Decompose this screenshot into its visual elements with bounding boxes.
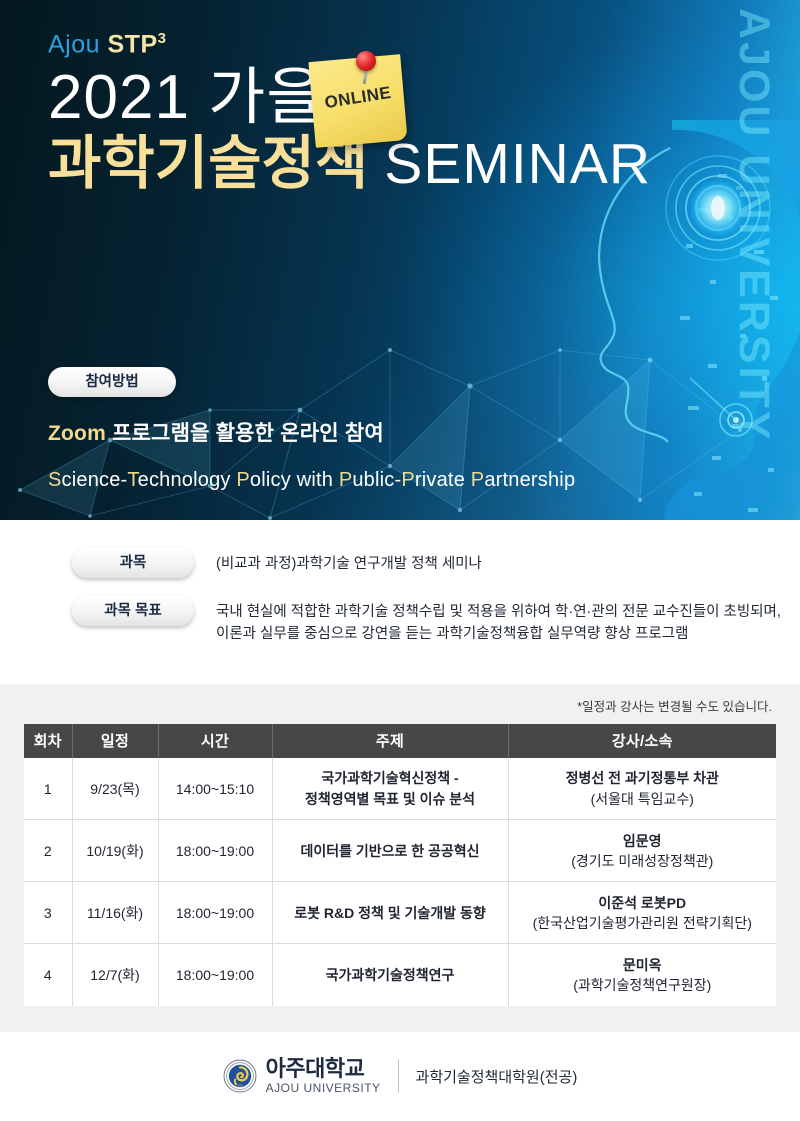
- brand-stp-text: STP: [108, 30, 158, 58]
- course-subject-row: 과목 (비교과 과정)과학기술 연구개발 정책 세미나: [0, 548, 800, 578]
- goal-pill-label: 과목 목표: [72, 596, 194, 626]
- speaker-name: 임문영: [515, 831, 771, 851]
- cell-session-no: 2: [24, 820, 72, 882]
- cell-topic: 국가과학기술혁신정책 - 정책영역별 목표 및 이슈 분석: [272, 758, 508, 820]
- poster-title-line-2: 과학기술정책 SEMINAR: [48, 132, 800, 197]
- goal-value-text: 국내 현실에 적합한 과학기술 정책수립 및 적용을 위하여 학·연·관의 전문…: [216, 596, 796, 646]
- cell-time: 14:00~15:10: [158, 758, 272, 820]
- tagline-segment-10: P: [471, 469, 485, 491]
- cell-date: 12/7(화): [72, 944, 158, 1006]
- brand-stp-superscript: 3: [158, 30, 167, 47]
- table-row: 2 10/19(화) 18:00~19:00 데이터를 기반으로 한 공공혁신 …: [24, 820, 776, 882]
- course-goal-row: 과목 목표 국내 현실에 적합한 과학기술 정책수립 및 적용을 위하여 학·연…: [0, 596, 800, 646]
- header-date: 일정: [72, 724, 158, 758]
- tagline-segment-1: cience-: [62, 469, 128, 491]
- tagline-segment-8: P: [401, 469, 415, 491]
- topic-line-1: 로봇 R&D 정책 및 기술개발 동향: [294, 905, 485, 921]
- cell-time: 18:00~19:00: [158, 882, 272, 944]
- cell-time: 18:00~19:00: [158, 944, 272, 1006]
- zoom-keyword: Zoom: [48, 422, 106, 445]
- schedule-section: *일정과 강사는 변경될 수도 있습니다. 회차 일정 시간 주제 강사/소속 …: [0, 684, 800, 1032]
- cell-time: 18:00~19:00: [158, 820, 272, 882]
- tagline-segment-11: artnership: [484, 469, 575, 491]
- cell-topic: 로봇 R&D 정책 및 기술개발 동향: [272, 882, 508, 944]
- header-topic: 주제: [272, 724, 508, 758]
- cell-speaker: 문미옥 (과학기술정책연구원장): [508, 944, 776, 1006]
- table-row: 4 12/7(화) 18:00~19:00 국가과학기술정책연구 문미옥 (과학…: [24, 944, 776, 1006]
- cell-session-no: 3: [24, 882, 72, 944]
- header-time: 시간: [158, 724, 272, 758]
- table-row: 3 11/16(화) 18:00~19:00 로봇 R&D 정책 및 기술개발 …: [24, 882, 776, 944]
- poster-footer: 아주대학교 AJOU UNIVERSITY 과학기술정책대학원(전공): [0, 1032, 800, 1121]
- cell-speaker: 정병선 전 과기정통부 차관 (서울대 특임교수): [508, 758, 776, 820]
- seminar-poster: AJOU UNIVERSITY ONLINE Ajou STP3 2021 가을…: [0, 0, 800, 1067]
- cell-topic: 국가과학기술정책연구: [272, 944, 508, 1006]
- subject-value-text: (비교과 과정)과학기술 연구개발 정책 세미나: [216, 548, 482, 575]
- topic-line-1: 국가과학기술혁신정책 -: [321, 770, 458, 786]
- tagline-segment-0: S: [48, 469, 62, 491]
- cell-date: 10/19(화): [72, 820, 158, 882]
- cell-date: 11/16(화): [72, 882, 158, 944]
- department-name: 과학기술정책대학원(전공): [416, 1066, 578, 1087]
- tagline-segment-2: T: [127, 469, 137, 491]
- schedule-table-header-row: 회차 일정 시간 주제 강사/소속: [24, 724, 776, 758]
- cell-speaker: 이준석 로봇PD (한국산업기술평가관리원 전략기획단): [508, 882, 776, 944]
- cell-session-no: 4: [24, 944, 72, 1006]
- cell-date: 9/23(목): [72, 758, 158, 820]
- ajou-university-seal-icon: [223, 1059, 257, 1093]
- speaker-org: (한국산업기술평가관리원 전략기획단): [515, 913, 771, 933]
- speaker-name: 문미옥: [515, 955, 771, 975]
- hero-tagline: Science-Technology Policy with Public-Pr…: [48, 469, 575, 492]
- university-name-korean: 아주대학교: [266, 1058, 381, 1081]
- participation-method-pill: 참여방법: [48, 367, 176, 397]
- course-info-section: 과목 (비교과 과정)과학기술 연구개발 정책 세미나 과목 목표 국내 현실에…: [0, 520, 800, 684]
- tagline-segment-4: P: [236, 469, 250, 491]
- participation-description: Zoom 프로그램을 활용한 온라인 참여: [48, 417, 800, 447]
- schedule-disclaimer-note: *일정과 강사는 변경될 수도 있습니다.: [0, 696, 800, 715]
- university-name-english: AJOU UNIVERSITY: [266, 1082, 381, 1094]
- brand-ajou-text: Ajou: [48, 30, 100, 58]
- cell-speaker: 임문영 (경기도 미래성장정책관): [508, 820, 776, 882]
- tagline-segment-6: P: [339, 469, 353, 491]
- speaker-name: 정병선 전 과기정통부 차관: [515, 768, 771, 788]
- university-name-block: 아주대학교 AJOU UNIVERSITY: [266, 1058, 381, 1094]
- schedule-table-body: 1 9/23(목) 14:00~15:10 국가과학기술혁신정책 - 정책영역별…: [24, 758, 776, 1006]
- schedule-table: 회차 일정 시간 주제 강사/소속 1 9/23(목) 14:00~15:10 …: [24, 724, 776, 1006]
- online-sticky-note: ONLINE: [312, 58, 404, 144]
- cell-session-no: 1: [24, 758, 72, 820]
- header-session-no: 회차: [24, 724, 72, 758]
- speaker-org: (서울대 특임교수): [515, 789, 771, 809]
- topic-line-2: 정책영역별 목표 및 이슈 분석: [305, 791, 475, 807]
- hero-banner: AJOU UNIVERSITY ONLINE Ajou STP3 2021 가을…: [0, 0, 800, 520]
- pushpin-icon: [356, 51, 376, 71]
- speaker-name: 이준석 로봇PD: [515, 893, 771, 913]
- topic-line-1: 국가과학기술정책연구: [326, 967, 455, 983]
- footer-logo-lockup: 아주대학교 AJOU UNIVERSITY 과학기술정책대학원(전공): [223, 1058, 578, 1094]
- poster-title-line-1: 2021 가을: [48, 65, 800, 130]
- brand-lockup: Ajou STP3: [48, 30, 800, 59]
- tagline-segment-7: ublic-: [352, 469, 401, 491]
- topic-line-1: 데이터를 기반으로 한 공공혁신: [300, 843, 479, 859]
- footer-divider: [398, 1059, 399, 1093]
- participation-rest-text: 프로그램을 활용한 온라인 참여: [106, 422, 384, 445]
- header-speaker: 강사/소속: [508, 724, 776, 758]
- tagline-segment-3: echnology: [138, 469, 237, 491]
- speaker-org: (경기도 미래성장정책관): [515, 851, 771, 871]
- speaker-org: (과학기술정책연구원장): [515, 975, 771, 995]
- poster-title-seminar: SEMINAR: [384, 132, 651, 196]
- table-row: 1 9/23(목) 14:00~15:10 국가과학기술혁신정책 - 정책영역별…: [24, 758, 776, 820]
- cell-topic: 데이터를 기반으로 한 공공혁신: [272, 820, 508, 882]
- tagline-segment-5: olicy with: [250, 469, 339, 491]
- tagline-segment-9: rivate: [415, 469, 471, 491]
- subject-pill-label: 과목: [72, 548, 194, 578]
